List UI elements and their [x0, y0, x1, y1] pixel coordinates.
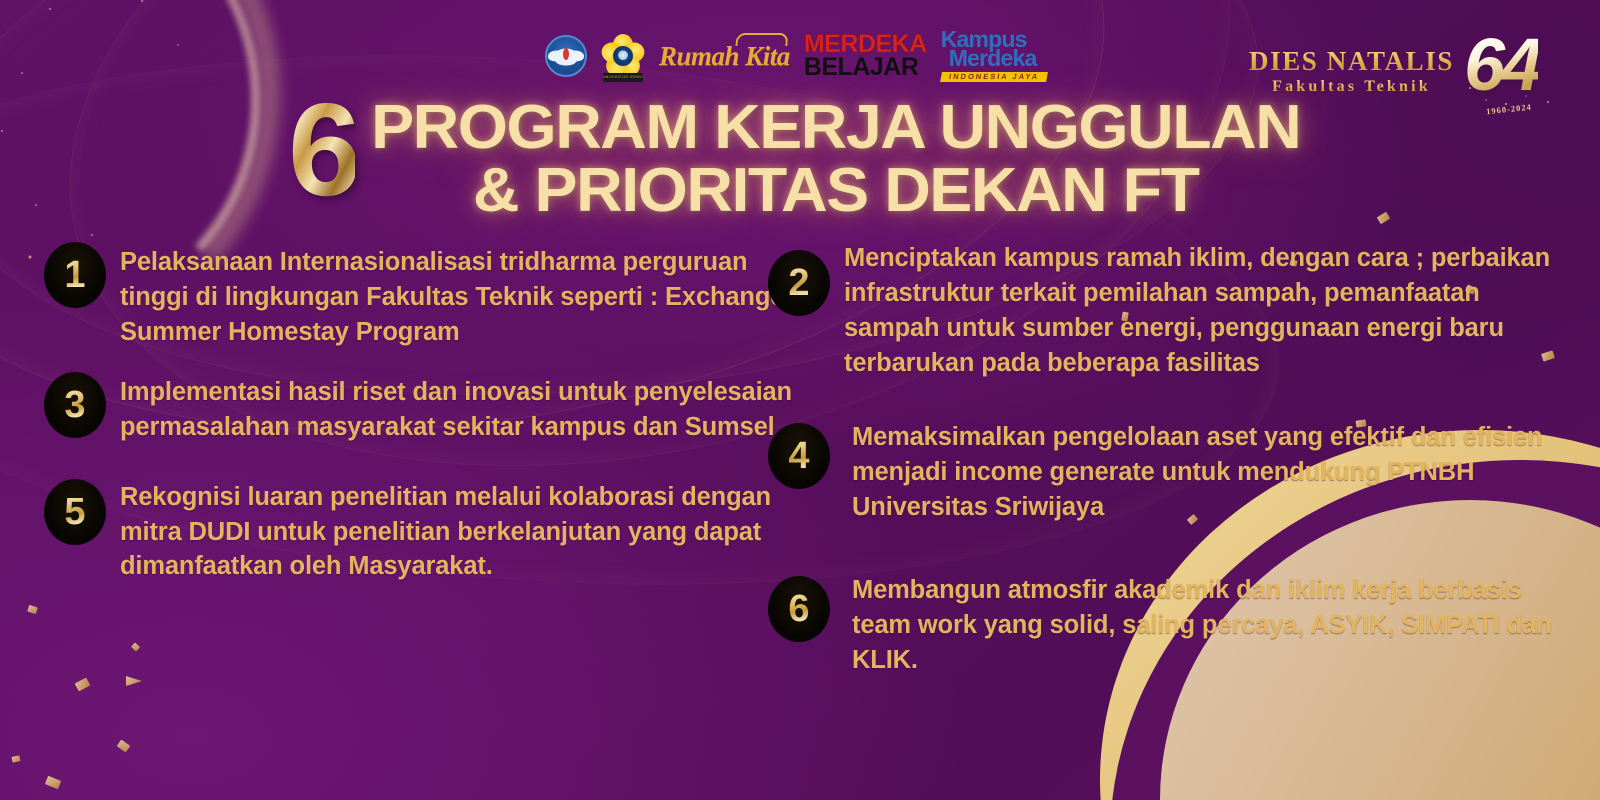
- program-list: 1 Pelaksanaan Internasionalisasi tridhar…: [0, 238, 1600, 783]
- item-number-1: 1: [64, 256, 85, 294]
- item-number-2: 2: [788, 264, 809, 302]
- anniversary-number: 64: [1464, 22, 1538, 107]
- headline-line-1: PROGRAM KERJA UNGGULAN: [371, 96, 1300, 159]
- headline-numeral-six: 6: [288, 84, 355, 216]
- program-item-2: 2 Menciptakan kampus ramah iklim, dengan…: [768, 238, 1568, 381]
- unsri-logo-ribbon: UNIVERSITAS SRIWIJAYA: [603, 73, 643, 82]
- headline-lines: PROGRAM KERJA UNGGULAN & PRIORITAS DEKAN…: [389, 96, 1282, 222]
- poster-canvas: UNIVERSITAS SRIWIJAYA Rumah Kita MERDEKA…: [0, 0, 1600, 800]
- kampus-merdeka-logo: Kampus Merdeka INDONESIA JAYA: [941, 30, 1047, 82]
- item-number-badge-3: 3: [44, 372, 106, 438]
- item-text-2: Menciptakan kampus ramah iklim, dengan c…: [844, 238, 1568, 381]
- indonesia-jaya-banner: INDONESIA JAYA: [940, 72, 1048, 82]
- program-column-left: 1 Pelaksanaan Internasionalisasi tridhar…: [44, 238, 804, 598]
- item-number-badge-1: 1: [44, 242, 106, 308]
- item-text-6: Membangun atmosfir akademik dan iklim ke…: [844, 570, 1568, 678]
- item-number-6: 6: [788, 590, 809, 628]
- dies-natalis-text: DIES NATALIS Fakultas Teknik: [1249, 46, 1454, 96]
- item-number-3: 3: [64, 386, 85, 424]
- merdeka-text: Merdeka: [949, 49, 1047, 68]
- program-item-1: 1 Pelaksanaan Internasionalisasi tridhar…: [44, 242, 804, 350]
- item-number-badge-2: 2: [768, 250, 830, 316]
- item-text-3: Implementasi hasil riset dan inovasi unt…: [120, 372, 804, 445]
- program-item-4: 4 Memaksimalkan pengelolaan aset yang ef…: [768, 417, 1568, 525]
- title-block: 6 PROGRAM KERJA UNGGULAN & PRIORITAS DEK…: [0, 96, 1600, 222]
- item-number-5: 5: [64, 493, 85, 531]
- universitas-sriwijaya-logo: UNIVERSITAS SRIWIJAYA: [601, 34, 645, 78]
- program-item-6: 6 Membangun atmosfir akademik dan iklim …: [768, 570, 1568, 678]
- program-item-3: 3 Implementasi hasil riset dan inovasi u…: [44, 372, 804, 445]
- item-number-badge-5: 5: [44, 479, 106, 545]
- headline-line-2: & PRIORITAS DEKAN FT: [371, 159, 1300, 222]
- item-number-badge-6: 6: [768, 576, 830, 642]
- item-text-4: Memaksimalkan pengelolaan aset yang efek…: [844, 417, 1568, 525]
- item-number-4: 4: [788, 437, 809, 475]
- tut-wuri-handayani-logo: [545, 35, 587, 77]
- item-number-badge-4: 4: [768, 423, 830, 489]
- merdeka-belajar-logo: MERDEKA BELAJAR: [804, 33, 927, 79]
- belajar-text: BELAJAR: [804, 56, 927, 79]
- program-column-right: 2 Menciptakan kampus ramah iklim, dengan…: [768, 238, 1568, 692]
- item-text-5: Rekognisi luaran penelitian melalui kola…: [120, 477, 804, 585]
- dies-natalis-title: DIES NATALIS: [1249, 46, 1454, 77]
- partner-logo-strip: UNIVERSITAS SRIWIJAYA Rumah Kita MERDEKA…: [545, 26, 1047, 86]
- house-roof-icon: [735, 33, 788, 46]
- rumah-kita-logo: Rumah Kita: [659, 36, 790, 76]
- item-text-1: Pelaksanaan Internasionalisasi tridharma…: [120, 242, 804, 350]
- program-item-5: 5 Rekognisi luaran penelitian melalui ko…: [44, 477, 804, 585]
